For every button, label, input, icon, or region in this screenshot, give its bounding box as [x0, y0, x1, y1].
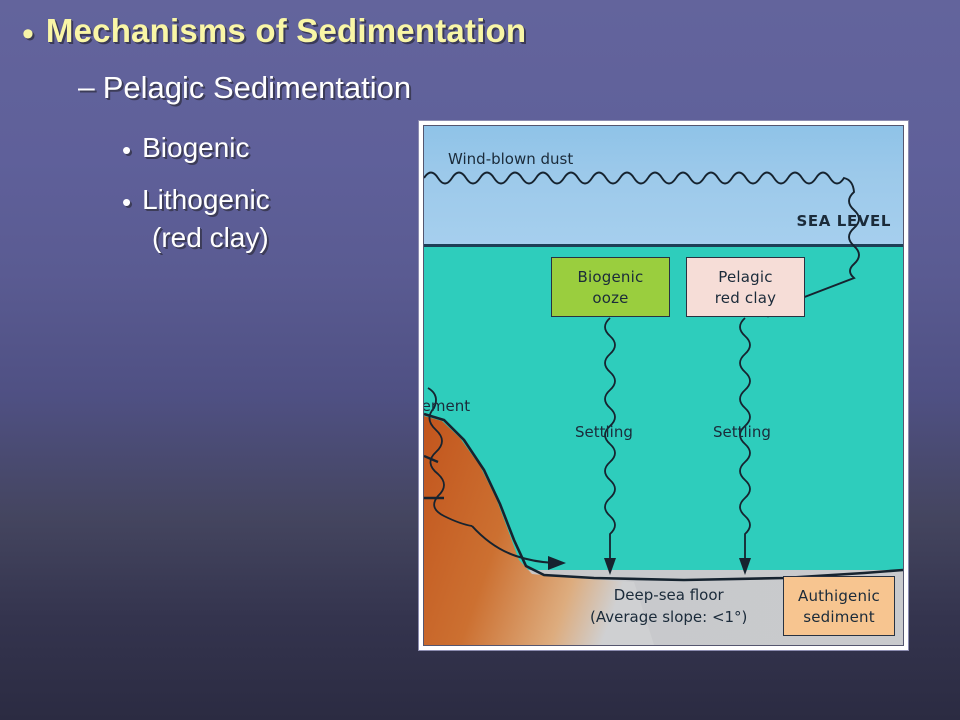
- outline-level1: • Mechanisms of Sedimentation: [22, 14, 526, 48]
- bullet-icon: •: [122, 189, 131, 215]
- outline-level3-lithogenic: • Lithogenic: [122, 186, 270, 214]
- dash-bullet-icon: –: [78, 73, 95, 103]
- page-title: Mechanisms of Sedimentation: [46, 14, 526, 47]
- figure-frame: Wind-blown dust SEA LEVEL lk nplacement …: [419, 121, 908, 650]
- authigenic-sediment-box: Authigenic sediment: [783, 576, 895, 636]
- bullet-icon: •: [22, 17, 34, 51]
- biogenic-ooze-line2: ooze: [552, 288, 669, 309]
- deep-sea-floor-label: Deep-sea floor (Average slope: <1°): [590, 584, 747, 628]
- pelagic-red-clay-line2: red clay: [687, 288, 804, 309]
- outline-level2-label: Pelagic Sedimentation: [103, 72, 411, 103]
- pelagic-red-clay-line1: Pelagic: [687, 267, 804, 288]
- biogenic-ooze-box: Biogenic ooze: [551, 257, 670, 317]
- outline-level3-label: Biogenic: [142, 134, 249, 162]
- settling-label-left: Settling: [575, 423, 633, 441]
- wind-blown-dust-label: Wind-blown dust: [448, 150, 573, 168]
- biogenic-ooze-line1: Biogenic: [552, 267, 669, 288]
- outline-level3-biogenic: • Biogenic: [122, 134, 250, 162]
- settling-label-right: Settling: [713, 423, 771, 441]
- deep-sea-floor-line1: Deep-sea floor: [590, 584, 747, 606]
- deep-sea-floor-line2: (Average slope: <1°): [590, 606, 747, 628]
- outline-level3-label: Lithogenic: [142, 186, 270, 214]
- authigenic-sediment-line2: sediment: [784, 607, 894, 628]
- pelagic-red-clay-box: Pelagic red clay: [686, 257, 805, 317]
- slide-canvas: • Mechanisms of Sedimentation – Pelagic …: [0, 0, 960, 720]
- outline-level3-continuation: (red clay): [152, 222, 269, 254]
- sea-level-label: SEA LEVEL: [797, 212, 892, 230]
- bulk-emplacement-label: lk nplacement: [423, 373, 470, 417]
- bullet-icon: •: [122, 137, 131, 163]
- outline-level2: – Pelagic Sedimentation: [78, 72, 411, 103]
- authigenic-sediment-line1: Authigenic: [784, 586, 894, 607]
- pelagic-sedimentation-diagram: Wind-blown dust SEA LEVEL lk nplacement …: [423, 125, 904, 646]
